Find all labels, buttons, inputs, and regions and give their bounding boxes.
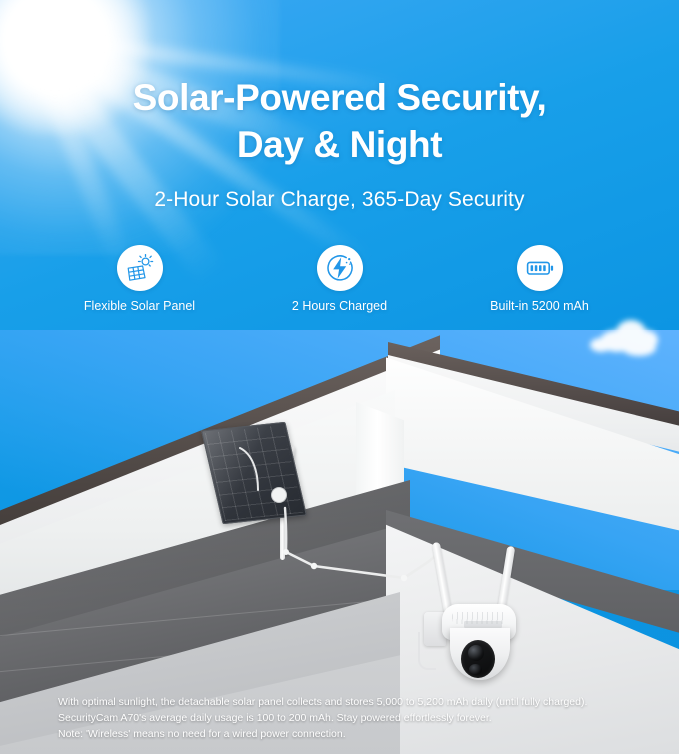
hero-subheadline: 2-Hour Solar Charge, 365-Day Security	[0, 186, 679, 214]
antenna-left	[432, 542, 452, 614]
solar-panel-icon-circle	[117, 245, 163, 291]
footer-line-3: Note: 'Wireless' means no need for a wir…	[58, 726, 668, 742]
footer-line-1: With optimal sunlight, the detachable so…	[58, 694, 668, 710]
feature-item-battery: Built-in 5200 mAh	[481, 245, 599, 314]
marketing-banner: Solar-Powered Security, Day & Night 2-Ho…	[0, 0, 679, 754]
footer-disclaimer: With optimal sunlight, the detachable so…	[58, 694, 668, 742]
lightning-bolt-icon-circle	[317, 245, 363, 291]
feature-item-charge-time: 2 Hours Charged	[281, 245, 399, 314]
feature-label: Built-in 5200 mAh	[490, 299, 589, 314]
battery-icon-circle	[517, 245, 563, 291]
feature-label: Flexible Solar Panel	[84, 299, 195, 314]
camera-brand-logo	[464, 621, 502, 628]
feature-list: Flexible Solar Panel 2 Hours Charged	[0, 245, 679, 314]
headline-line-1: Solar-Powered Security,	[0, 74, 679, 121]
solar-panel-icon	[125, 253, 155, 283]
battery-icon	[525, 253, 555, 283]
hero-headline: Solar-Powered Security, Day & Night	[0, 74, 679, 168]
product-photo	[0, 330, 679, 754]
camera-lens-secondary	[469, 664, 482, 675]
feature-item-solar-panel: Flexible Solar Panel	[81, 245, 199, 314]
lightning-bolt-icon	[325, 253, 355, 283]
camera-lens-primary	[468, 645, 484, 661]
headline-line-2: Day & Night	[0, 121, 679, 168]
panel-hinge	[271, 487, 287, 503]
footer-line-2: SecurityCam A70's average daily usage is…	[58, 710, 668, 726]
feature-label: 2 Hours Charged	[292, 299, 387, 314]
security-camera	[430, 540, 540, 690]
